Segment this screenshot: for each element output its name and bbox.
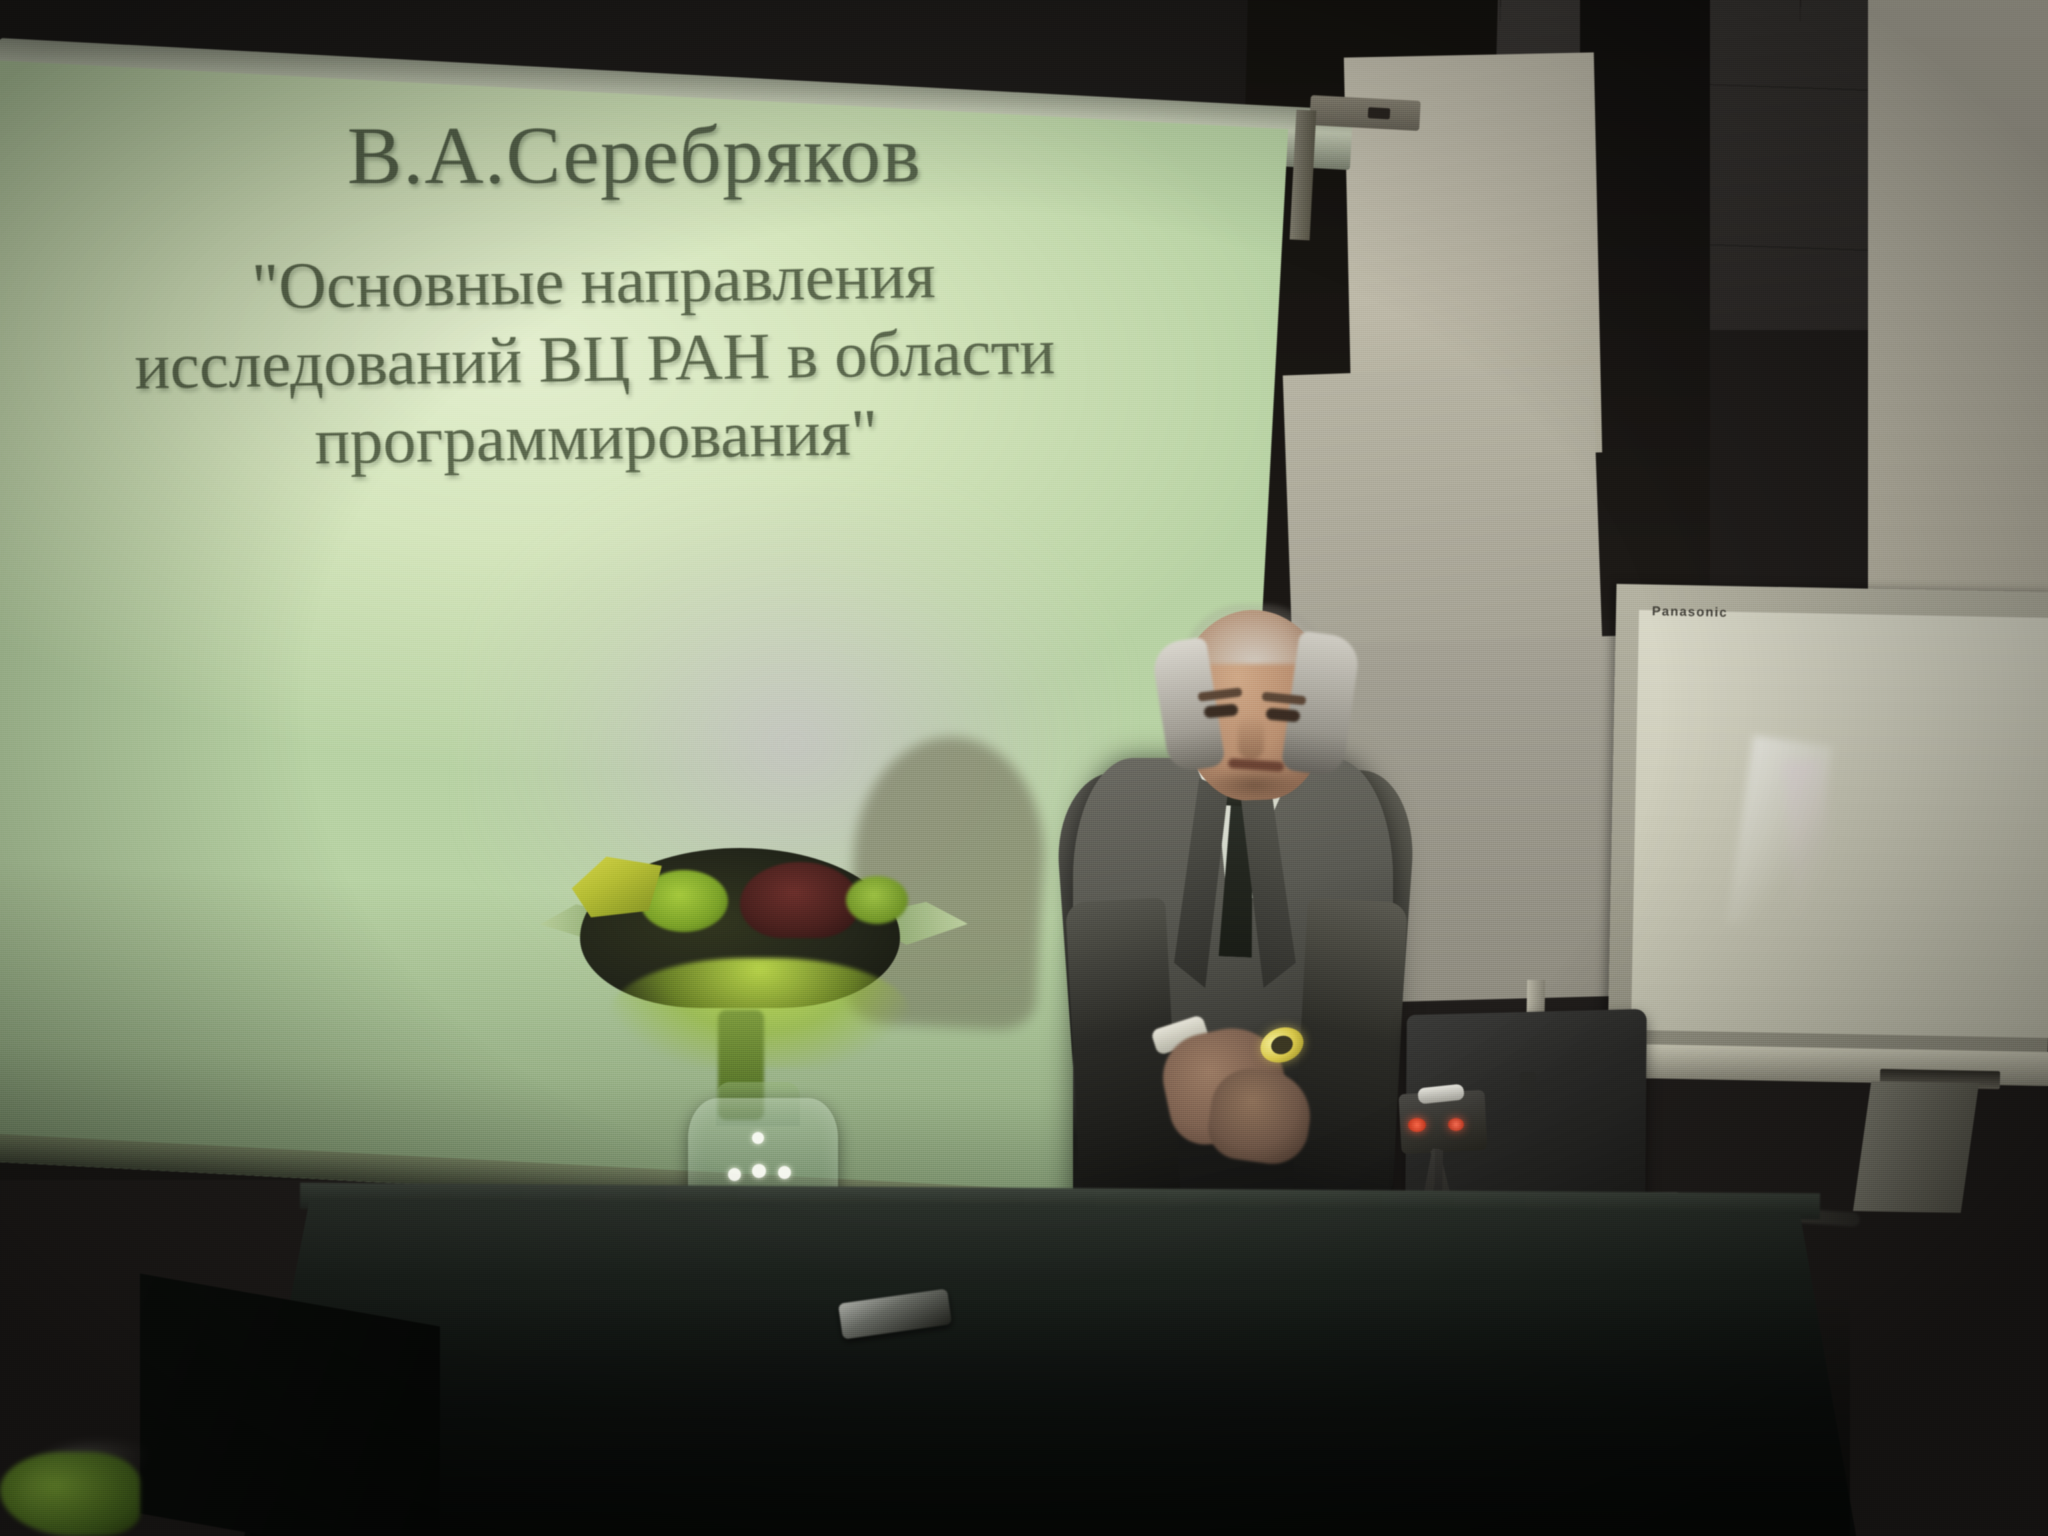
camera-status-led-icon <box>1448 1118 1464 1131</box>
vase-highlight-2 <box>728 1168 741 1181</box>
slide-author-name: В.А.Серебряков <box>0 111 1284 200</box>
wall-dark-right <box>1580 0 1710 620</box>
whiteboard-surface[interactable] <box>1631 610 2048 1038</box>
vase-highlight-3 <box>752 1164 766 1178</box>
slide-subtitle: "Основные направления исследований ВЦ РА… <box>63 234 1127 485</box>
laptop-hinge <box>1520 1072 1536 1098</box>
table-front-drape <box>250 1300 1850 1536</box>
whiteboard-brand-label: Panasonic <box>1652 603 1728 619</box>
speaker-arm-right <box>1292 898 1408 1203</box>
camera-record-led-icon <box>1408 1118 1426 1132</box>
vase-highlight-4 <box>778 1166 791 1179</box>
foreground-foliage <box>0 1452 140 1536</box>
bouquet-burgundy-flower <box>740 862 860 938</box>
lecture-room-photo: В.А.Серебряков "Основные направления исс… <box>0 0 2048 1536</box>
projection-screen-end-cap <box>1309 95 1420 131</box>
vase-highlight-1 <box>752 1132 764 1144</box>
bouquet-green-flower-right <box>846 876 908 924</box>
whiteboard-stand-leg <box>1853 1081 1979 1213</box>
wall-panel-far-right <box>1868 0 2048 610</box>
slide-content: В.А.Серебряков "Основные направления исс… <box>0 64 1286 684</box>
speaker-nose <box>1238 716 1264 760</box>
speaker-chin-shadow <box>1206 768 1302 802</box>
